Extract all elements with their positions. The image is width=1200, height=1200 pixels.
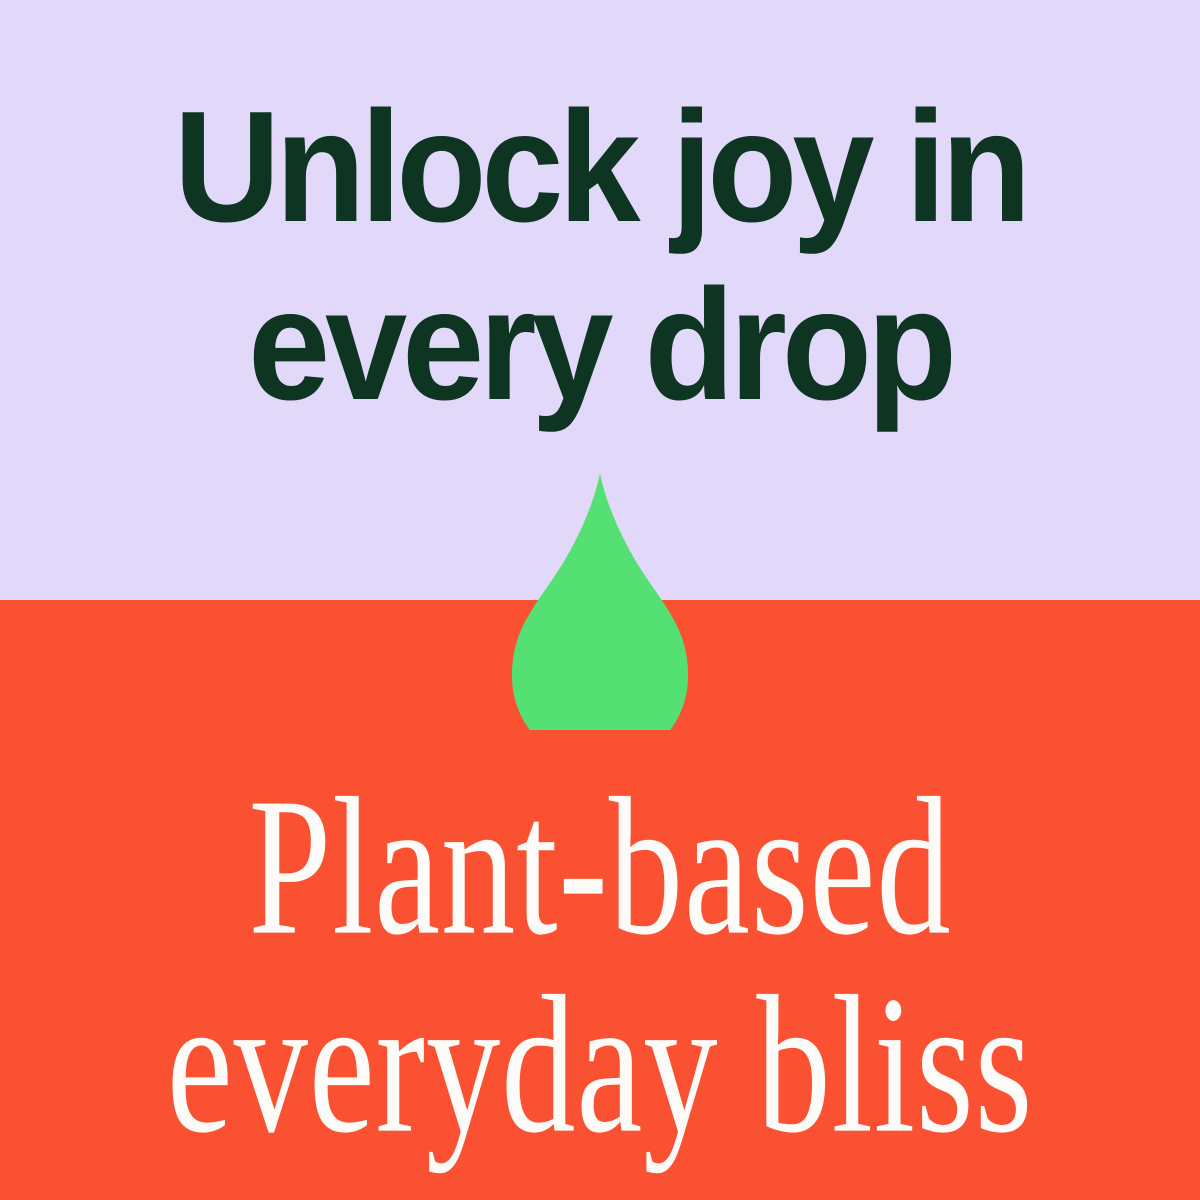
promo-poster: Unlock joy in every drop Plant-based eve… [0,0,1200,1200]
headline-line-1: Unlock joy in [39,78,1161,256]
subline-line-2: everyday bliss [120,960,1080,1170]
subline-line-1: Plant-based [120,762,1080,972]
headline: Unlock joy in every drop [0,78,1200,434]
subline: Plant-based everyday bliss [0,762,1200,1158]
headline-line-2: every drop [39,256,1161,434]
